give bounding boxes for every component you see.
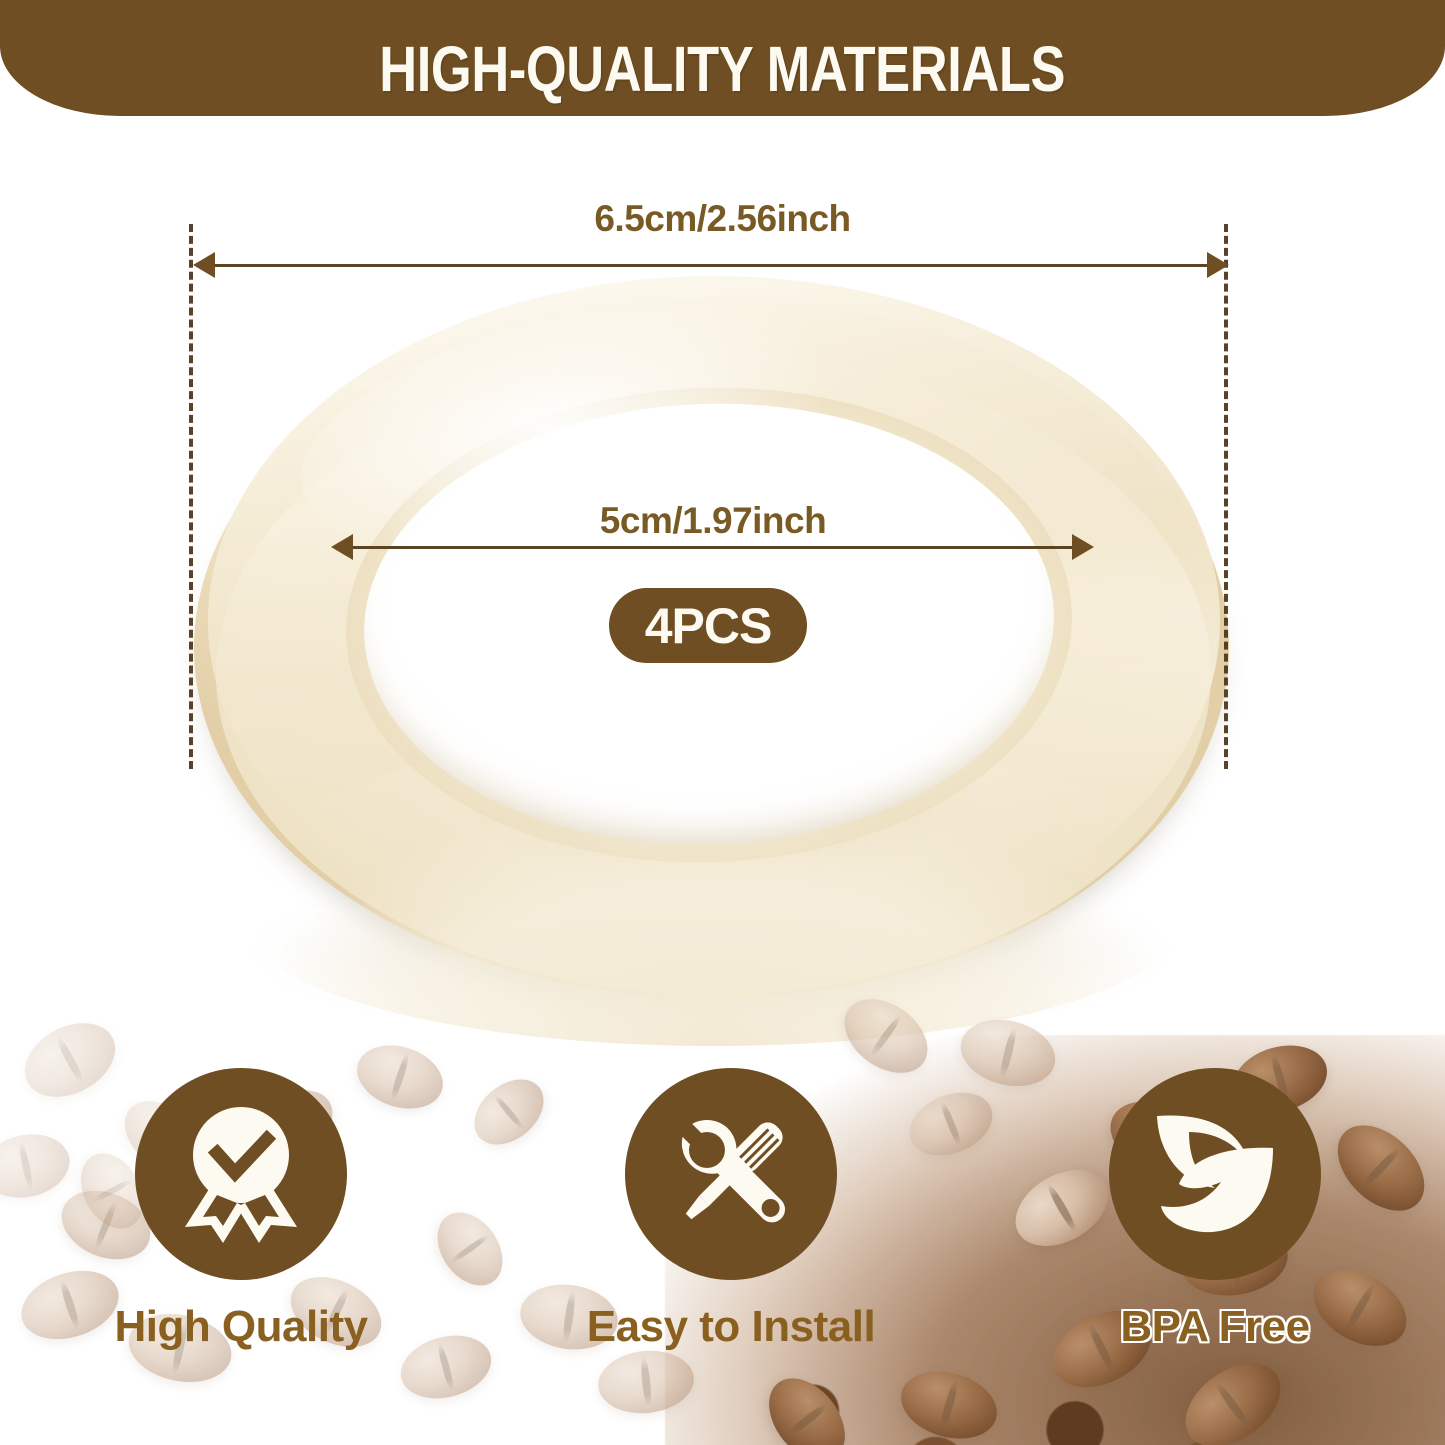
feature-icon-circle — [1109, 1068, 1321, 1280]
feature-high-quality: High Quality — [61, 1068, 421, 1352]
guide-line-left — [189, 224, 193, 769]
arrow-left-icon — [193, 252, 215, 278]
quantity-badge-label: 4PCS — [645, 597, 772, 655]
coffee-bean — [462, 1066, 556, 1158]
coffee-bean — [424, 1200, 516, 1298]
outer-dimension-label: 6.5cm/2.56inch — [0, 198, 1445, 240]
feature-label: High Quality — [61, 1302, 421, 1352]
infographic-canvas: HIGH-QUALITY MATERIALS 6.5cm/2.56inch 5c… — [0, 0, 1445, 1445]
wrench-screwdriver-icon — [661, 1104, 801, 1244]
feature-icon-circle — [135, 1068, 347, 1280]
outer-dimension-line — [214, 264, 1209, 267]
arrow-right-icon — [1072, 534, 1094, 560]
inner-dimension-label: 5cm/1.97inch — [352, 500, 1074, 542]
feature-easy-to-install: Easy to Install — [551, 1068, 911, 1352]
inner-dimension-line — [352, 546, 1074, 549]
feature-bpa-free: BPA Free — [1035, 1068, 1395, 1352]
arrow-right-icon — [1207, 252, 1229, 278]
page-title: HIGH-QUALITY MATERIALS — [380, 32, 1066, 106]
quantity-badge: 4PCS — [609, 588, 807, 663]
feature-label: BPA Free — [1035, 1302, 1395, 1352]
feature-icon-circle — [625, 1068, 837, 1280]
quality-ribbon-icon — [173, 1103, 309, 1245]
leaf-eco-icon — [1145, 1106, 1285, 1242]
arrow-left-icon — [331, 534, 353, 560]
header-banner: HIGH-QUALITY MATERIALS — [0, 0, 1445, 116]
feature-label: Easy to Install — [551, 1302, 911, 1352]
guide-line-right — [1224, 224, 1228, 769]
